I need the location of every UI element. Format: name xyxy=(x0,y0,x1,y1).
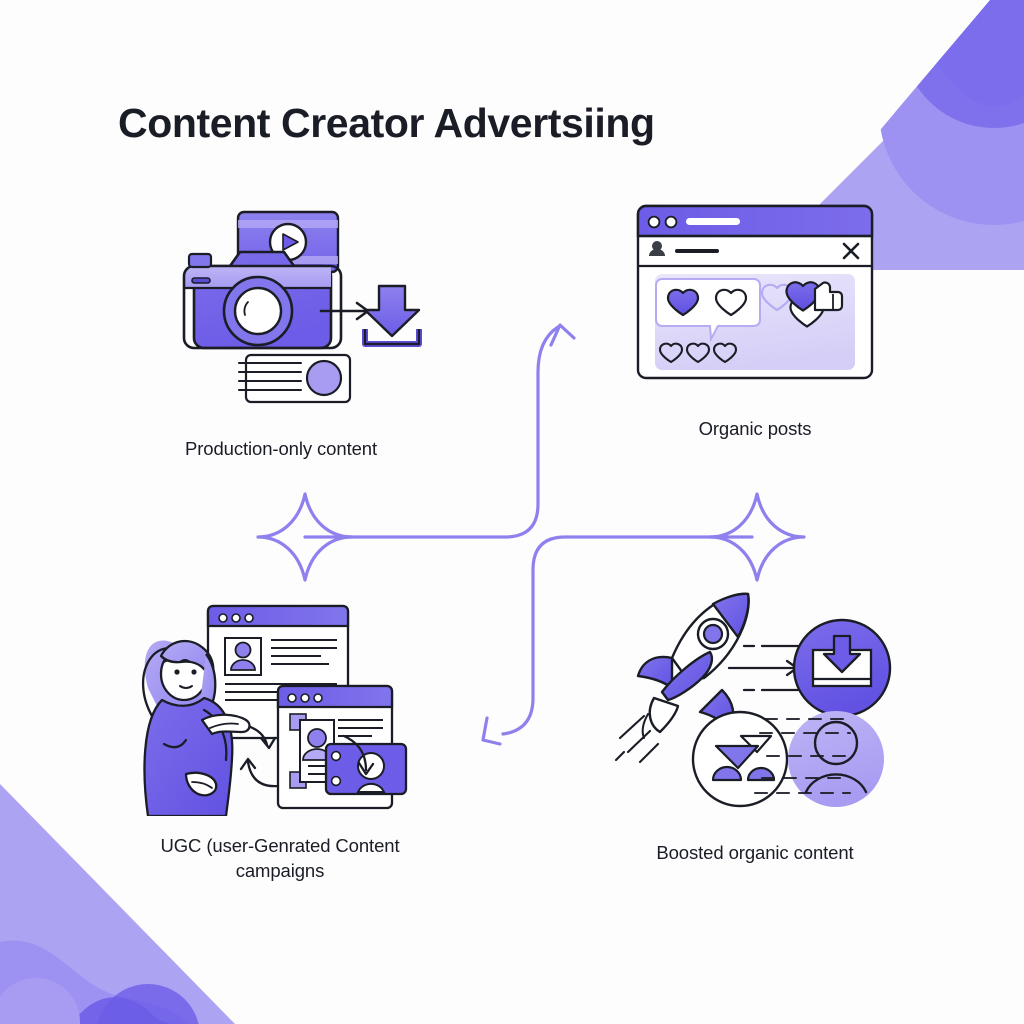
production-only-content-illustration xyxy=(95,198,467,413)
quadrant-production-only-content[interactable]: Production-only content xyxy=(95,198,467,462)
boosted-organic-content-illustration xyxy=(575,586,935,811)
audience-icon xyxy=(693,712,787,806)
infographic-canvas: Content Creator Advertsiing xyxy=(0,0,1024,1024)
quadrant-ugc-campaigns[interactable]: UGC (user-Genrated Content campaigns xyxy=(82,596,478,884)
page-title: Content Creator Advertsiing xyxy=(118,100,655,147)
article-card-icon xyxy=(239,355,350,402)
quadrant-label-production-only-content: Production-only content xyxy=(95,437,467,462)
arrow-right-icon xyxy=(729,646,798,690)
download-icon xyxy=(365,286,419,344)
sparkle-icon xyxy=(710,494,804,580)
quadrant-boosted-organic-content[interactable]: Boosted organic content xyxy=(575,586,935,866)
connector-tl-to-tr-arrowhead xyxy=(551,325,574,345)
quadrant-label-ugc-campaigns: UGC (user-Genrated Content campaigns xyxy=(82,834,478,884)
download-circle-icon xyxy=(794,620,890,716)
connector-tr-to-bl-arrowhead xyxy=(483,718,500,744)
sparkle-icon xyxy=(258,494,352,580)
ugc-label-line-1: UGC (user-Genrated Content xyxy=(82,834,478,859)
quadrant-label-organic-posts: Organic posts xyxy=(585,417,925,442)
quadrant-label-boosted-organic-content: Boosted organic content xyxy=(575,841,935,866)
organic-posts-illustration xyxy=(585,198,925,393)
ugc-label-line-2: campaigns xyxy=(82,859,478,884)
camera-icon xyxy=(184,252,341,348)
quadrant-organic-posts[interactable]: Organic posts xyxy=(585,198,925,442)
ugc-campaigns-illustration xyxy=(82,596,478,816)
